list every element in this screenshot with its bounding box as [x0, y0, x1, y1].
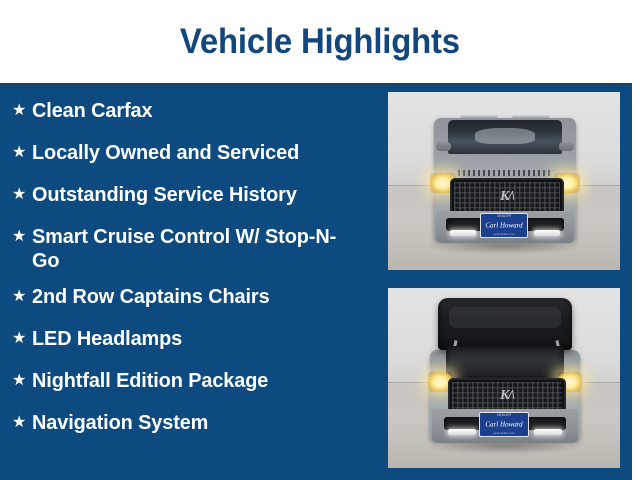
drl-right — [534, 230, 560, 236]
dealer-license-plate: DEALER Carl Howard www.dealer.com — [480, 213, 528, 238]
side-mirror-right — [559, 142, 574, 151]
page-title: Vehicle Highlights — [180, 24, 460, 59]
kia-logo: K/\ — [500, 189, 514, 205]
windshield — [448, 120, 562, 154]
drl-right — [534, 429, 562, 435]
list-item: ★ Clean Carfax — [10, 92, 370, 129]
star-icon: ★ — [10, 134, 32, 171]
plate-top-text: DEALER — [481, 215, 527, 219]
highlight-label: 2nd Row Captains Chairs — [32, 278, 360, 309]
list-item: ★ Navigation System — [10, 404, 370, 441]
plate-script-text: Carl Howard — [485, 222, 522, 229]
slide-header: Vehicle Highlights — [0, 0, 640, 83]
vehicle-highlights-slide: Vehicle Highlights ★ Clean Carfax ★ Loca… — [0, 0, 640, 480]
kia-logo: K/\ — [500, 388, 514, 404]
highlight-label: Outstanding Service History — [32, 176, 360, 207]
list-item: ★ 2nd Row Captains Chairs — [10, 278, 370, 315]
vehicle-front-view-photo[interactable]: K/\ DEALER Carl Howard www.dealer.com — [388, 92, 620, 270]
star-icon: ★ — [10, 404, 32, 441]
list-item: ★ Outstanding Service History — [10, 176, 370, 213]
list-item: ★ Smart Cruise Control W/ Stop-N-Go — [10, 218, 370, 273]
highlight-label: Navigation System — [32, 404, 360, 435]
vehicle-engine-bay-photo[interactable]: K/\ DEALER Carl Howard www.dealer.com — [388, 288, 620, 468]
list-item: ★ Locally Owned and Serviced — [10, 134, 370, 171]
star-icon: ★ — [10, 278, 32, 315]
side-mirror-left — [436, 142, 451, 151]
highlight-label: Locally Owned and Serviced — [32, 134, 360, 165]
highlight-label: Smart Cruise Control W/ Stop-N-Go — [32, 218, 360, 273]
list-item: ★ Nightfall Edition Package — [10, 362, 370, 399]
plate-top-text: DEALER — [480, 414, 528, 418]
right-gutter — [632, 83, 640, 480]
star-icon: ★ — [10, 362, 32, 399]
highlights-list: ★ Clean Carfax ★ Locally Owned and Servi… — [0, 83, 378, 480]
plate-script-text: Carl Howard — [485, 421, 522, 428]
hood-badge-telluride — [458, 170, 552, 176]
drl-left — [450, 230, 476, 236]
star-icon: ★ — [10, 218, 32, 255]
dealer-license-plate: DEALER Carl Howard www.dealer.com — [479, 412, 529, 437]
list-item: ★ LED Headlamps — [10, 320, 370, 357]
highlight-label: Clean Carfax — [32, 92, 360, 123]
plate-bottom-text: www.dealer.com — [481, 233, 527, 236]
star-icon: ★ — [10, 92, 32, 129]
star-icon: ★ — [10, 176, 32, 213]
star-icon: ★ — [10, 320, 32, 357]
open-hood — [438, 298, 572, 350]
plate-bottom-text: www.dealer.com — [480, 432, 528, 435]
highlight-label: LED Headlamps — [32, 320, 360, 351]
highlight-label: Nightfall Edition Package — [32, 362, 360, 393]
engine-bay — [446, 346, 564, 380]
drl-left — [448, 429, 476, 435]
